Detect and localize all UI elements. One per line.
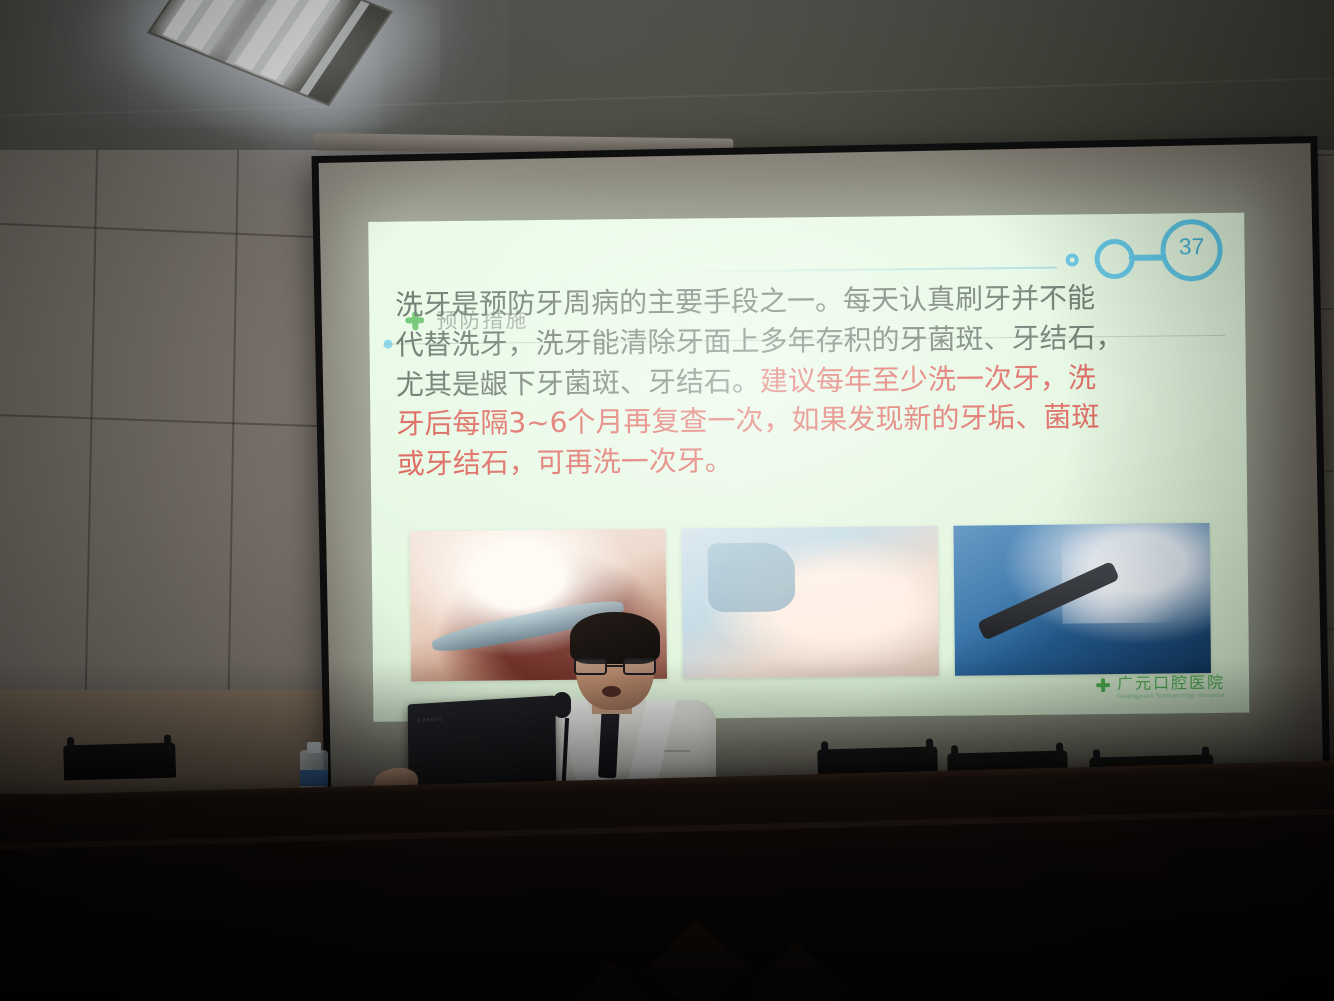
- logo-text-block: 广元口腔医院 Guangyuan Stomatology Hospital: [1117, 669, 1225, 700]
- photo-patient-chair: [681, 526, 939, 679]
- logo-name-en: Guangyuan Stomatology Hospital: [1117, 693, 1225, 700]
- tile-seam: [0, 414, 340, 428]
- logo-name-cn: 广元口腔医院: [1117, 673, 1225, 693]
- hospital-logo: 广元口腔医院 Guangyuan Stomatology Hospital: [1096, 669, 1225, 700]
- slide-page-number: 37: [1170, 233, 1212, 260]
- photo-ultrasonic-scaler: [953, 523, 1211, 676]
- tile-seam: [83, 120, 98, 760]
- mouth: [602, 686, 621, 697]
- body-line-text: 尤其是龈下牙菌斑、牙结石。: [396, 364, 760, 401]
- green-cross-icon: [1096, 678, 1110, 692]
- tile-seam: [0, 223, 340, 239]
- badge-small-dot: [1066, 253, 1079, 266]
- emphasis-line: 或牙结石，可再洗一次牙。: [397, 436, 1243, 485]
- microphone: [553, 692, 571, 718]
- coat-pocket: [664, 750, 690, 752]
- presenter-table: [0, 765, 1334, 1001]
- tile-seam: [226, 120, 239, 760]
- projected-slide: 37 预防措施 洗牙是预防牙周病的主要手段之一。每天认真刷牙并不能 代替洗牙，洗…: [368, 213, 1249, 722]
- hair: [570, 612, 660, 664]
- laptop-brand-label: Lenovo: [418, 716, 444, 724]
- lecture-hall-scene: 37 预防措施 洗牙是预防牙周病的主要手段之一。每天认真刷牙并不能 代替洗牙，洗…: [0, 0, 1334, 1001]
- slide-body-text: 洗牙是预防牙周病的主要手段之一。每天认真刷牙并不能 代替洗牙，洗牙能清除牙面上多…: [395, 277, 1243, 485]
- emphasis-line-text: 建议每年至少洗一次牙，洗: [760, 361, 1096, 398]
- badge-leader-line: [669, 267, 1057, 273]
- glasses-icon: [574, 658, 656, 675]
- water-spray: [1061, 529, 1205, 623]
